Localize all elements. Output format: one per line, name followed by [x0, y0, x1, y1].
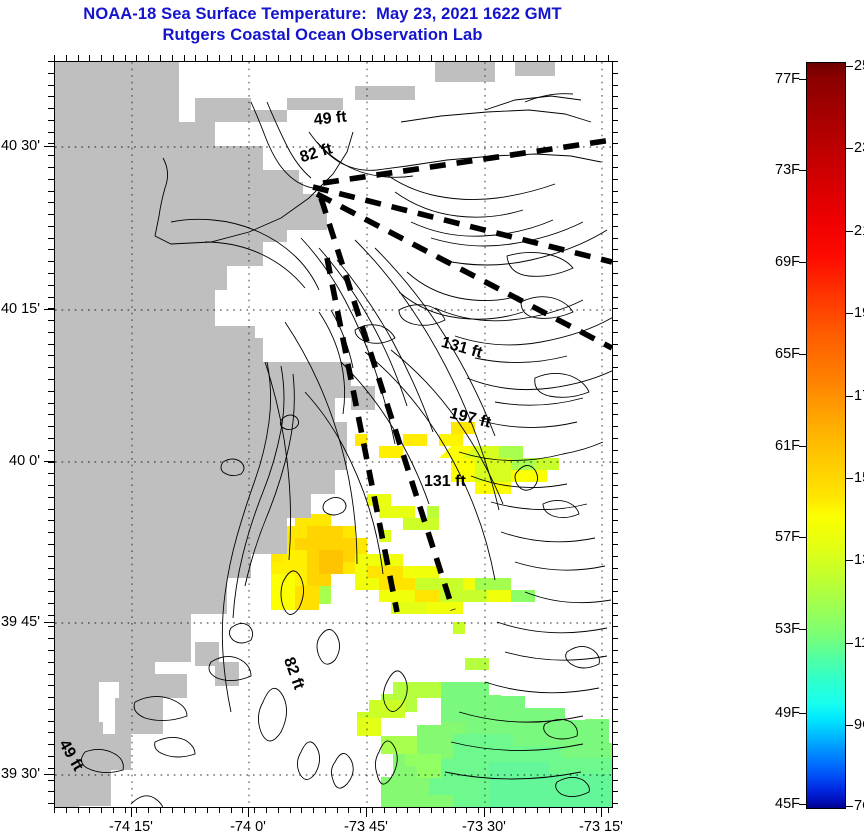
- axis-tick-x-minor: [266, 55, 267, 61]
- axis-tick-x-minor: [525, 55, 526, 61]
- axis-tick-y-minor: [48, 344, 54, 345]
- axis-tick-y-minor: [612, 438, 618, 439]
- axis-tick-y-minor: [612, 780, 618, 781]
- axis-tick-x-minor: [608, 807, 609, 813]
- axis-tick-y-minor: [48, 462, 54, 463]
- axis-tick-y-minor: [612, 791, 618, 792]
- colorbar-gradient: [806, 62, 846, 809]
- axis-tick-y-minor: [612, 285, 618, 286]
- axis-tick-y-minor: [48, 803, 54, 804]
- axis-tick-y-minor: [612, 638, 618, 639]
- axis-tick-x-minor: [443, 807, 444, 813]
- axis-tick-y-minor: [612, 96, 618, 97]
- axis-tick-y-minor: [612, 85, 618, 86]
- colorbar-tick-c-2: [846, 231, 853, 232]
- axis-tick-x-major: [248, 807, 249, 817]
- axis-tick-x-minor: [478, 807, 479, 813]
- axis-tick-x-minor: [195, 55, 196, 61]
- axis-tick-y-minor: [612, 202, 618, 203]
- axis-tick-y-minor: [48, 61, 54, 62]
- axis-tick-x-minor: [89, 55, 90, 61]
- axis-tick-x-minor: [160, 55, 161, 61]
- axis-tick-x-minor: [348, 807, 349, 813]
- axis-tick-x-minor: [490, 55, 491, 61]
- axis-tick-y-minor: [48, 391, 54, 392]
- axis-tick-y-minor: [612, 308, 618, 309]
- colorbar-label-f-0: 77F: [748, 71, 800, 87]
- axis-tick-y-minor: [612, 167, 618, 168]
- axis-tick-y-minor: [48, 520, 54, 521]
- colorbar-label-f-2: 69F: [748, 254, 800, 270]
- axis-tick-y-minor: [48, 485, 54, 486]
- axis-label-y-1: 40 15': [0, 301, 40, 317]
- colorbar-tick-f-8: [799, 804, 806, 805]
- axis-tick-x-minor: [584, 55, 585, 61]
- axis-tick-x-minor: [219, 55, 220, 61]
- axis-tick-x-minor: [313, 55, 314, 61]
- axis-tick-y-minor: [48, 615, 54, 616]
- axis-tick-y-minor: [612, 249, 618, 250]
- axis-tick-x-minor: [254, 55, 255, 61]
- title-line-2: Rutgers Coastal Ocean Observation Lab: [0, 25, 645, 46]
- axis-tick-y-minor: [612, 143, 618, 144]
- axis-tick-x-minor: [278, 55, 279, 61]
- axis-tick-y-minor: [48, 744, 54, 745]
- axis-tick-x-minor: [572, 55, 573, 61]
- axis-tick-y-minor: [48, 591, 54, 592]
- axis-tick-y-minor: [612, 591, 618, 592]
- colorbar-label-c-5: 15C: [854, 470, 864, 486]
- colorbar-label-c-1: 23C: [854, 140, 864, 156]
- axis-tick-x-minor: [596, 807, 597, 813]
- axis-tick-x-minor: [325, 807, 326, 813]
- axis-tick-x-minor: [301, 55, 302, 61]
- axis-tick-y-minor: [48, 780, 54, 781]
- axis-tick-x-minor: [325, 55, 326, 61]
- depth-contour-label-0: 49 ft: [313, 109, 348, 130]
- axis-tick-y-minor: [612, 226, 618, 227]
- axis-tick-y-minor: [48, 379, 54, 380]
- axis-tick-y-minor: [48, 238, 54, 239]
- axis-tick-y-minor: [612, 238, 618, 239]
- axis-tick-y-minor: [48, 532, 54, 533]
- colorbar-tick-f-5: [799, 537, 806, 538]
- axis-tick-x-minor: [148, 807, 149, 813]
- axis-tick-y-minor: [48, 179, 54, 180]
- axis-tick-x-minor: [372, 807, 373, 813]
- axis-tick-y-minor: [48, 674, 54, 675]
- axis-tick-x-minor: [278, 807, 279, 813]
- colorbar-tick-f-0: [799, 79, 806, 80]
- axis-tick-y-minor: [48, 509, 54, 510]
- axis-tick-x-minor: [419, 55, 420, 61]
- sst-map[interactable]: [54, 61, 613, 808]
- axis-tick-y-minor: [48, 249, 54, 250]
- axis-tick-y-major: [44, 622, 54, 623]
- colorbar-tick-f-1: [799, 170, 806, 171]
- colorbar-label-f-6: 53F: [748, 621, 800, 637]
- colorbar-label-c-9: 7C: [854, 798, 864, 814]
- axis-tick-y-minor: [612, 426, 618, 427]
- axis-tick-y-minor: [48, 603, 54, 604]
- colorbar-label-f-7: 49F: [748, 705, 800, 721]
- axis-tick-y-minor: [48, 544, 54, 545]
- axis-tick-y-minor: [48, 556, 54, 557]
- axis-tick-y-minor: [612, 497, 618, 498]
- axis-label-x-2: -73 45': [344, 819, 388, 835]
- axis-tick-x-minor: [419, 807, 420, 813]
- axis-tick-x-minor: [584, 807, 585, 813]
- axis-tick-x-minor: [466, 807, 467, 813]
- colorbar-label-c-2: 21C: [854, 223, 864, 239]
- axis-tick-x-minor: [66, 55, 67, 61]
- colorbar-tick-c-7: [846, 643, 853, 644]
- axis-tick-y-minor: [612, 403, 618, 404]
- axis-tick-y-minor: [48, 568, 54, 569]
- axis-tick-y-minor: [612, 626, 618, 627]
- colorbar-label-c-6: 13C: [854, 552, 864, 568]
- colorbar-tick-c-3: [846, 313, 853, 314]
- axis-tick-y-minor: [612, 155, 618, 156]
- axis-tick-x-minor: [136, 807, 137, 813]
- colorbar-label-f-1: 73F: [748, 162, 800, 178]
- axis-tick-y-minor: [48, 626, 54, 627]
- axis-tick-y-minor: [612, 120, 618, 121]
- axis-tick-y-minor: [48, 403, 54, 404]
- colorbar-tick-c-0: [846, 66, 853, 67]
- axis-tick-y-minor: [48, 426, 54, 427]
- axis-tick-y-major: [44, 309, 54, 310]
- axis-tick-x-minor: [172, 807, 173, 813]
- axis-tick-y-minor: [612, 132, 618, 133]
- title-line-1: NOAA-18 Sea Surface Temperature: May 23,…: [0, 4, 645, 25]
- axis-tick-y-minor: [48, 438, 54, 439]
- axis-tick-x-minor: [502, 55, 503, 61]
- axis-tick-x-minor: [290, 55, 291, 61]
- axis-tick-y-minor: [612, 61, 618, 62]
- colorbar-label-f-8: 45F: [748, 796, 800, 812]
- axis-tick-y-minor: [612, 544, 618, 545]
- axis-tick-y-minor: [48, 768, 54, 769]
- colorbar-label-c-7: 11C: [854, 635, 864, 651]
- axis-tick-x-minor: [407, 807, 408, 813]
- axis-tick-x-minor: [231, 807, 232, 813]
- axis-tick-x-minor: [337, 55, 338, 61]
- axis-tick-y-minor: [612, 355, 618, 356]
- axis-tick-y-minor: [612, 568, 618, 569]
- axis-tick-x-minor: [207, 807, 208, 813]
- axis-tick-y-minor: [48, 191, 54, 192]
- axis-tick-x-minor: [290, 807, 291, 813]
- axis-tick-y-minor: [48, 638, 54, 639]
- axis-tick-y-minor: [48, 167, 54, 168]
- axis-tick-x-minor: [372, 55, 373, 61]
- axis-tick-y-minor: [612, 73, 618, 74]
- axis-tick-y-minor: [48, 685, 54, 686]
- axis-tick-x-minor: [254, 807, 255, 813]
- axis-tick-x-minor: [160, 807, 161, 813]
- axis-tick-y-minor: [612, 332, 618, 333]
- axis-tick-x-minor: [431, 55, 432, 61]
- axis-tick-y-minor: [612, 214, 618, 215]
- axis-tick-y-minor: [612, 721, 618, 722]
- depth-contour-label-4: 131 ft: [424, 473, 466, 491]
- axis-tick-y-minor: [612, 768, 618, 769]
- axis-label-y-4: 39 30': [0, 766, 40, 782]
- axis-tick-y-minor: [612, 697, 618, 698]
- axis-tick-y-minor: [612, 261, 618, 262]
- axis-tick-y-minor: [48, 273, 54, 274]
- axis-tick-x-minor: [207, 55, 208, 61]
- axis-tick-y-minor: [612, 414, 618, 415]
- axis-tick-x-minor: [125, 55, 126, 61]
- axis-tick-x-minor: [113, 807, 114, 813]
- axis-label-y-3: 39 45': [0, 614, 40, 630]
- axis-tick-y-minor: [612, 473, 618, 474]
- axis-tick-y-minor: [48, 214, 54, 215]
- axis-tick-y-minor: [48, 579, 54, 580]
- axis-tick-x-minor: [54, 55, 55, 61]
- colorbar-label-f-5: 57F: [748, 529, 800, 545]
- axis-tick-x-minor: [360, 807, 361, 813]
- colorbar-label-c-0: 25C: [854, 58, 864, 74]
- axis-tick-y-minor: [48, 355, 54, 356]
- axis-tick-y-minor: [612, 520, 618, 521]
- axis-tick-x-minor: [455, 807, 456, 813]
- map-clip: [55, 62, 612, 807]
- axis-tick-y-minor: [612, 556, 618, 557]
- axis-tick-x-minor: [396, 55, 397, 61]
- axis-tick-x-major: [131, 807, 132, 817]
- axis-tick-y-minor: [612, 179, 618, 180]
- axis-tick-y-minor: [612, 509, 618, 510]
- axis-tick-y-minor: [612, 803, 618, 804]
- colorbar-tick-f-7: [799, 713, 806, 714]
- axis-tick-y-minor: [612, 273, 618, 274]
- axis-tick-y-minor: [48, 226, 54, 227]
- axis-tick-y-minor: [48, 367, 54, 368]
- axis-tick-y-minor: [48, 108, 54, 109]
- axis-tick-y-minor: [612, 485, 618, 486]
- axis-tick-y-minor: [48, 261, 54, 262]
- axis-tick-x-minor: [549, 55, 550, 61]
- axis-tick-x-minor: [125, 807, 126, 813]
- axis-tick-y-minor: [48, 662, 54, 663]
- axis-tick-x-minor: [113, 55, 114, 61]
- axis-tick-x-minor: [78, 807, 79, 813]
- colorbar-tick-c-5: [846, 478, 853, 479]
- axis-tick-y-minor: [48, 450, 54, 451]
- axis-tick-y-minor: [48, 732, 54, 733]
- colorbar-label-c-3: 19C: [854, 305, 864, 321]
- axis-tick-x-minor: [502, 807, 503, 813]
- axis-tick-y-minor: [612, 709, 618, 710]
- axis-tick-x-minor: [101, 807, 102, 813]
- axis-tick-y-minor: [612, 603, 618, 604]
- axis-tick-y-minor: [612, 674, 618, 675]
- axis-tick-x-minor: [148, 55, 149, 61]
- axis-tick-y-minor: [48, 709, 54, 710]
- axis-tick-x-minor: [360, 55, 361, 61]
- axis-tick-x-minor: [384, 55, 385, 61]
- axis-label-y-0: 40 30': [0, 138, 40, 154]
- axis-tick-y-minor: [48, 202, 54, 203]
- axis-label-y-2: 40 0': [0, 453, 40, 469]
- axis-tick-y-major: [44, 146, 54, 147]
- colorbar-label-f-4: 61F: [748, 438, 800, 454]
- axis-tick-y-minor: [612, 344, 618, 345]
- axis-tick-y-minor: [48, 96, 54, 97]
- colorbar-label-c-4: 17C: [854, 388, 864, 404]
- axis-tick-x-minor: [455, 55, 456, 61]
- axis-label-x-4: -73 15': [579, 819, 623, 835]
- axis-label-x-0: -74 15': [109, 819, 153, 835]
- colorbar-tick-f-2: [799, 262, 806, 263]
- axis-tick-y-minor: [48, 285, 54, 286]
- axis-tick-y-minor: [612, 391, 618, 392]
- axis-tick-x-minor: [219, 807, 220, 813]
- axis-tick-y-minor: [48, 791, 54, 792]
- axis-tick-y-minor: [48, 332, 54, 333]
- axis-tick-y-minor: [612, 297, 618, 298]
- axis-tick-x-minor: [443, 55, 444, 61]
- axis-tick-y-minor: [612, 108, 618, 109]
- axis-tick-x-minor: [184, 55, 185, 61]
- colorbar-tick-f-6: [799, 629, 806, 630]
- axis-tick-y-minor: [48, 85, 54, 86]
- axis-tick-x-minor: [78, 55, 79, 61]
- axis-tick-x-minor: [54, 807, 55, 813]
- axis-tick-x-minor: [396, 807, 397, 813]
- axis-tick-x-minor: [596, 55, 597, 61]
- axis-tick-x-minor: [242, 55, 243, 61]
- axis-tick-y-minor: [612, 462, 618, 463]
- axis-tick-x-minor: [561, 55, 562, 61]
- axis-tick-x-minor: [407, 55, 408, 61]
- colorbar-tick-c-8: [846, 725, 853, 726]
- axis-tick-y-minor: [48, 697, 54, 698]
- axis-tick-y-minor: [48, 143, 54, 144]
- axis-tick-y-minor: [612, 320, 618, 321]
- axis-tick-y-minor: [48, 297, 54, 298]
- axis-tick-x-minor: [549, 807, 550, 813]
- axis-tick-x-minor: [337, 807, 338, 813]
- axis-tick-x-minor: [266, 807, 267, 813]
- axis-tick-y-major: [44, 461, 54, 462]
- colorbar-label-c-8: 9C: [854, 717, 864, 733]
- axis-tick-y-minor: [48, 650, 54, 651]
- axis-tick-y-minor: [48, 320, 54, 321]
- axis-tick-y-minor: [48, 414, 54, 415]
- axis-label-x-1: -74 0': [230, 819, 266, 835]
- axis-tick-x-major: [484, 807, 485, 817]
- axis-tick-y-minor: [612, 744, 618, 745]
- axis-tick-x-major: [601, 807, 602, 817]
- axis-tick-x-minor: [490, 807, 491, 813]
- axis-tick-y-minor: [612, 756, 618, 757]
- colorbar-tick-f-3: [799, 354, 806, 355]
- axis-tick-x-minor: [572, 807, 573, 813]
- axis-tick-x-minor: [301, 807, 302, 813]
- axis-tick-y-minor: [612, 532, 618, 533]
- axis-tick-x-minor: [66, 807, 67, 813]
- axis-tick-y-minor: [48, 73, 54, 74]
- colorbar-tick-c-4: [846, 396, 853, 397]
- axis-tick-y-minor: [612, 579, 618, 580]
- axis-tick-y-minor: [48, 155, 54, 156]
- axis-tick-y-minor: [612, 732, 618, 733]
- axis-tick-y-major: [44, 774, 54, 775]
- colorbar-tick-c-1: [846, 148, 853, 149]
- axis-tick-y-minor: [48, 120, 54, 121]
- axis-tick-x-minor: [172, 55, 173, 61]
- axis-tick-y-minor: [612, 379, 618, 380]
- axis-label-x-3: -73 30': [462, 819, 506, 835]
- axis-tick-x-minor: [231, 55, 232, 61]
- axis-tick-x-minor: [348, 55, 349, 61]
- axis-tick-y-minor: [612, 191, 618, 192]
- axis-tick-x-minor: [89, 807, 90, 813]
- axis-tick-y-minor: [612, 615, 618, 616]
- axis-tick-x-minor: [431, 807, 432, 813]
- axis-tick-y-minor: [48, 132, 54, 133]
- axis-tick-x-minor: [561, 807, 562, 813]
- axis-tick-y-minor: [48, 473, 54, 474]
- axis-tick-x-minor: [478, 55, 479, 61]
- axis-tick-x-minor: [537, 807, 538, 813]
- axis-tick-y-minor: [612, 367, 618, 368]
- page-title: NOAA-18 Sea Surface Temperature: May 23,…: [0, 4, 645, 46]
- colorbar-tick-c-6: [846, 560, 853, 561]
- axis-tick-y-minor: [48, 721, 54, 722]
- axis-tick-x-minor: [313, 807, 314, 813]
- axis-tick-x-minor: [136, 55, 137, 61]
- axis-tick-x-minor: [513, 807, 514, 813]
- axis-tick-x-minor: [384, 807, 385, 813]
- axis-tick-x-minor: [242, 807, 243, 813]
- colorbar[interactable]: [806, 62, 846, 809]
- axis-tick-x-minor: [608, 55, 609, 61]
- axis-tick-x-major: [366, 807, 367, 817]
- colorbar-tick-c-9: [846, 806, 853, 807]
- axis-tick-x-minor: [466, 55, 467, 61]
- axis-tick-x-minor: [101, 55, 102, 61]
- axis-tick-x-minor: [513, 55, 514, 61]
- axis-tick-y-minor: [612, 685, 618, 686]
- axis-tick-x-minor: [537, 55, 538, 61]
- colorbar-tick-f-4: [799, 446, 806, 447]
- axis-tick-y-minor: [48, 756, 54, 757]
- axis-tick-y-minor: [612, 450, 618, 451]
- axis-tick-x-minor: [525, 807, 526, 813]
- axis-tick-x-minor: [195, 807, 196, 813]
- axis-tick-x-minor: [184, 807, 185, 813]
- axis-tick-y-minor: [612, 662, 618, 663]
- map-graphics: [55, 62, 612, 807]
- axis-tick-y-minor: [48, 497, 54, 498]
- colorbar-label-f-3: 65F: [748, 346, 800, 362]
- axis-tick-y-minor: [612, 650, 618, 651]
